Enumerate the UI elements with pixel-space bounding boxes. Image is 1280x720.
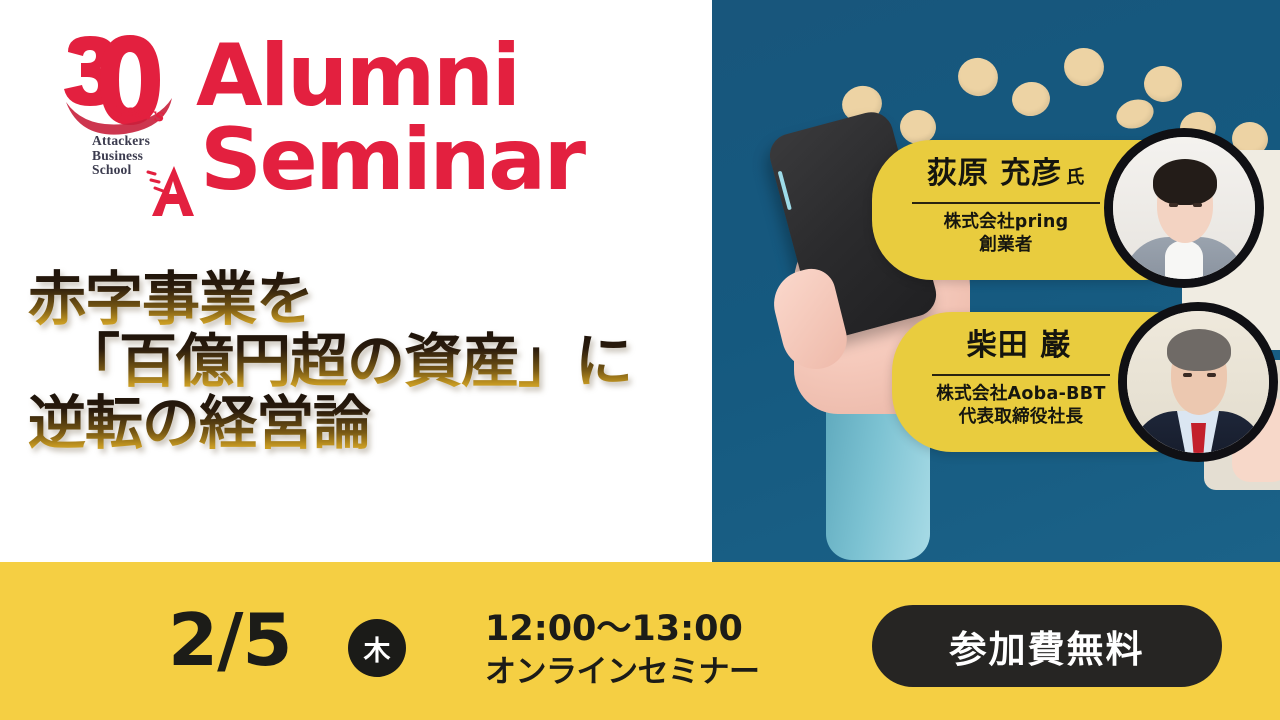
wordmark-line-2: Seminar (200, 118, 584, 202)
price-badge-label: 参加費無料 (950, 619, 1145, 673)
day-of-week-badge: 木 (348, 619, 406, 677)
event-format: オンラインセミナー (485, 651, 760, 694)
coin-3 (954, 54, 1002, 101)
event-date: 2/5 (168, 604, 292, 676)
speaker-2-name-text: 柴田 巌 (967, 328, 1071, 363)
speaker-1-org: 株式会社pring (906, 211, 1106, 234)
speaker-2-name: 柴田 巌 (926, 328, 1116, 368)
event-time-block: 12:00〜13:00 オンラインセミナー (485, 608, 760, 694)
alumni-seminar-wordmark: Alumni Seminar (196, 34, 584, 202)
coin-4 (1010, 80, 1052, 119)
event-time: 12:00〜13:00 (485, 608, 760, 651)
thirty-years-icon: years (56, 30, 206, 135)
speaker-1-avatar (1104, 128, 1264, 288)
speaker-2-divider (932, 374, 1110, 376)
speaker-2-org: 株式会社Aoba-BBT (926, 383, 1116, 406)
portrait-2-hair (1167, 329, 1231, 371)
wordmark-line-1: Alumni (196, 34, 584, 118)
left-content-panel: years AttackersBusinessSchool Alumni Sem… (0, 0, 712, 562)
headline-line-3: 逆転の経営論 (28, 392, 688, 454)
portrait-1-shirt (1165, 241, 1203, 288)
portrait-2-eye-right (1207, 373, 1216, 377)
speaker-2-role: 代表取締役社長 (926, 406, 1116, 429)
speaker-2-avatar (1118, 302, 1278, 462)
speaker-1-name-text: 荻原 充彦 (927, 156, 1062, 191)
portrait-1-hair (1153, 159, 1217, 205)
school-name-text: AttackersBusinessSchool (92, 134, 150, 178)
illustration-panel: 荻原 充彦氏 株式会社pring 創業者 柴田 巌 株式会社Aoba-BBT 代… (712, 0, 1280, 562)
speaker-1-role: 創業者 (906, 234, 1106, 257)
portrait-2-necktie (1191, 423, 1206, 462)
coin-5 (1061, 45, 1107, 89)
headline-line-1: 赤字事業を (28, 268, 688, 330)
speaker-1-name: 荻原 充彦氏 (906, 156, 1106, 196)
portrait-1-eye-right (1193, 203, 1202, 207)
portrait-2-eye-left (1183, 373, 1192, 377)
page-title: 赤字事業を 「百億円超の資産」に 逆転の経営論 (28, 268, 688, 454)
price-badge: 参加費無料 (872, 605, 1222, 687)
seminar-poster: years AttackersBusinessSchool Alumni Sem… (0, 0, 1280, 720)
coin-7 (1142, 64, 1184, 104)
speaker-1-name-suffix: 氏 (1066, 167, 1085, 188)
coin-6 (1113, 95, 1158, 133)
speaker-1-divider (912, 202, 1100, 204)
headline-line-2: 「百億円超の資産」に (28, 330, 688, 392)
portrait-1-eye-left (1169, 203, 1178, 207)
